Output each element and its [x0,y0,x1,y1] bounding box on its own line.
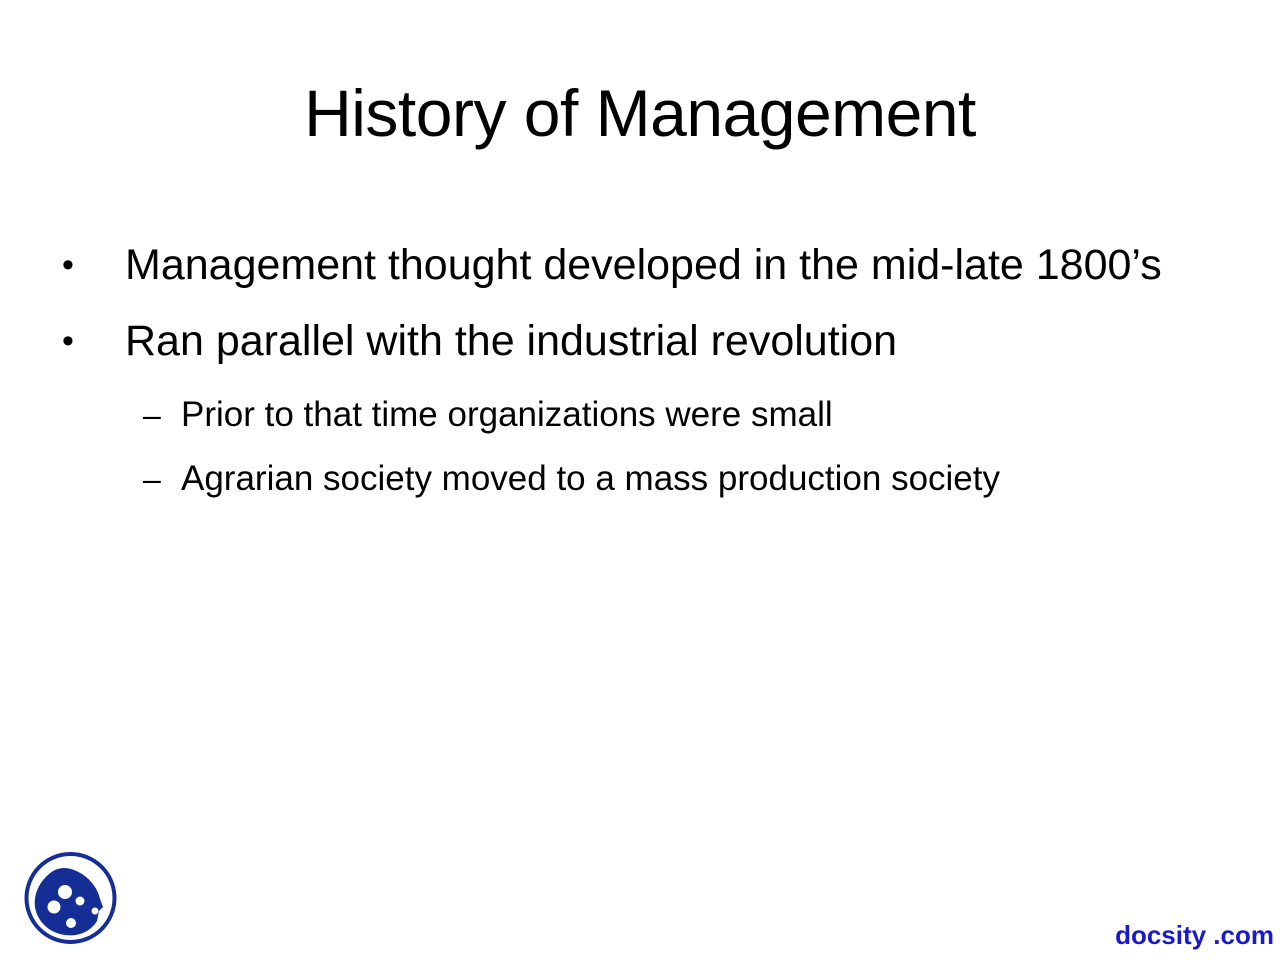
dash-marker-icon: – [143,384,181,446]
docsity-watermark: docsity .com [1115,920,1274,950]
list-item: – Agrarian society moved to a mass produ… [143,448,1182,510]
bullet-list: • Management thought developed in the mi… [62,232,1182,512]
list-item-label: Ran parallel with the industrial revolut… [125,308,1182,374]
list-item-label: Prior to that time organizations were sm… [181,384,1182,446]
list-item: • Management thought developed in the mi… [62,232,1182,298]
list-item-label: Management thought developed in the mid-… [125,232,1182,298]
list-item: – Prior to that time organizations were … [143,384,1182,446]
list-item-label: Agrarian society moved to a mass product… [181,448,1182,510]
bullet-marker-icon: • [62,232,125,298]
docsity-logo-icon [23,849,118,947]
dash-marker-icon: – [143,448,181,510]
bullet-marker-icon: • [62,308,125,374]
page-title: History of Management [0,74,1280,152]
list-item: • Ran parallel with the industrial revol… [62,308,1182,374]
